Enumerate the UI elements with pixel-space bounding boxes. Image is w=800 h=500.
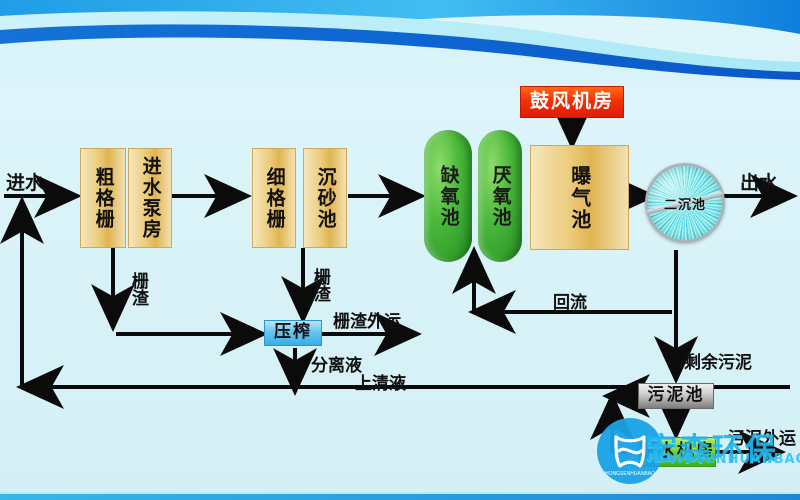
label-screenings-coarse: 栅渣 (128, 272, 146, 306)
node-label: 厌氧池 (489, 165, 510, 228)
label-excess-sludge: 剩余污泥 (684, 348, 752, 373)
watermark-brand-pinyin: HONGSENHUANBAO (648, 452, 800, 467)
node-label: 二沉池 (664, 194, 706, 213)
node-label: 进水泵房 (139, 156, 160, 240)
label-screenings-out: 栅渣外运 (333, 307, 401, 332)
node-aeration-tank[interactable]: 曝气池 (530, 145, 629, 250)
node-influent-pump-room[interactable]: 进水泵房 (128, 148, 172, 248)
node-label: 压榨 (274, 323, 312, 342)
node-label: 粗格栅 (92, 167, 113, 230)
node-anaerobic-tank[interactable]: 厌氧池 (478, 130, 522, 262)
label-screenings-fine: 栅渣 (310, 268, 328, 302)
node-sludge-tank[interactable]: 污泥池 (638, 383, 714, 409)
label-effluent: 出水 (740, 168, 778, 195)
node-secondary-clarifier[interactable]: 二沉池 (645, 163, 725, 243)
node-blower-room[interactable]: 鼓风机房 (520, 86, 624, 118)
watermark-ring-text: HONGSENHUANBAO (605, 471, 655, 477)
node-press[interactable]: 压榨 (264, 320, 322, 346)
node-label: 曝气池 (568, 165, 590, 231)
label-supernatant: 上清液 (355, 369, 406, 394)
node-label: 污泥池 (648, 386, 705, 405)
label-influent: 进水 (6, 168, 44, 195)
node-fine-screen[interactable]: 细格栅 (252, 148, 296, 248)
node-label: 沉砂池 (314, 167, 335, 230)
node-label: 细格栅 (263, 167, 284, 230)
node-coarse-screen[interactable]: 粗格栅 (80, 148, 126, 248)
diagram-canvas: 粗格栅 进水泵房 细格栅 沉砂池 缺氧池 厌氧池 曝气池 鼓风机房 压榨 污泥池… (0, 0, 800, 500)
node-label: 缺氧池 (437, 165, 458, 228)
label-return-flow: 回流 (553, 288, 587, 313)
node-label: 鼓风机房 (530, 91, 614, 112)
node-anoxic-tank[interactable]: 缺氧池 (424, 130, 472, 262)
node-grit-chamber[interactable]: 沉砂池 (303, 148, 347, 248)
